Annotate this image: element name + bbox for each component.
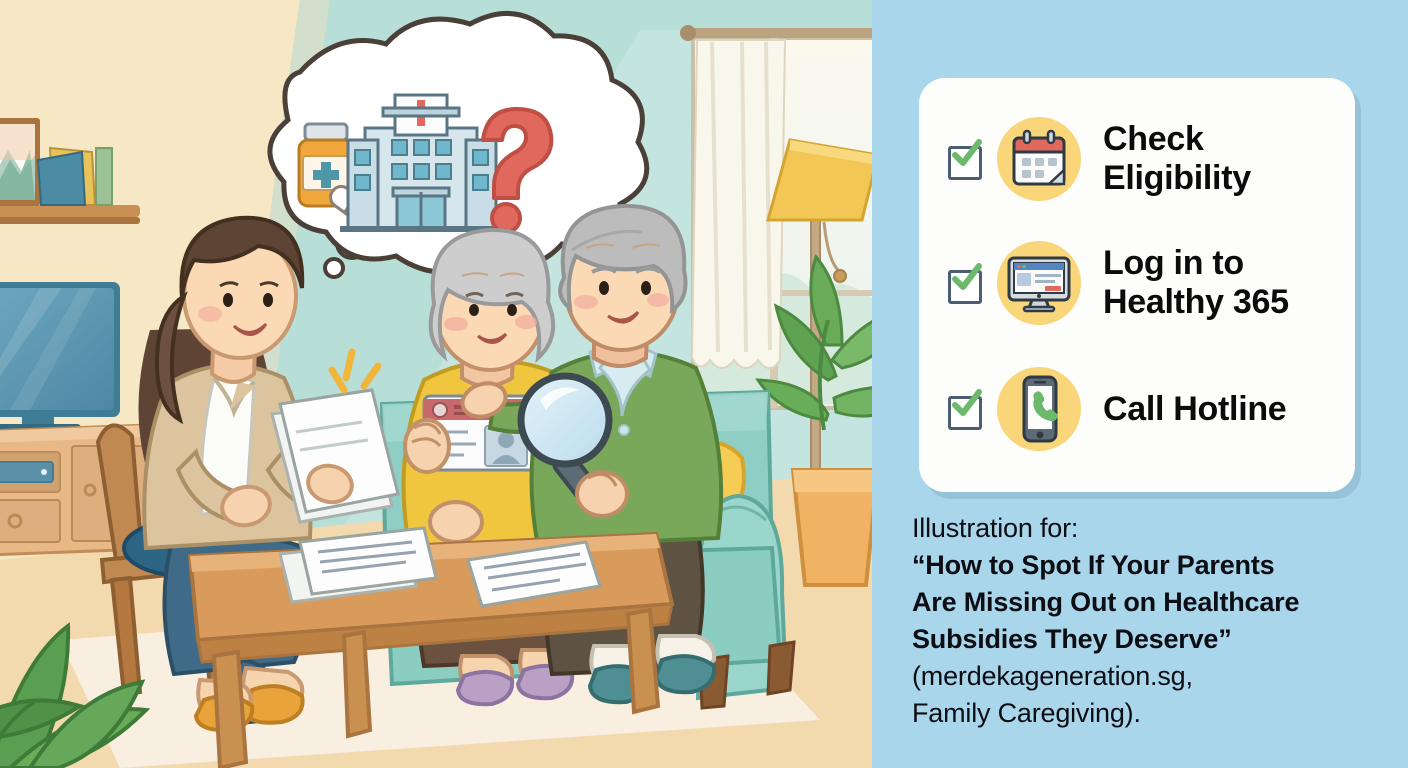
checklist-item-label: Call Hotline: [1103, 390, 1286, 429]
checklist-item-call-hotline[interactable]: Call Hotline: [919, 350, 1355, 468]
slipper: [656, 656, 714, 692]
caption-title: “How to Spot If Your Parents Are Missing…: [912, 547, 1382, 658]
caption-source: (merdekageneration.sg, Family Caregiving…: [912, 658, 1382, 732]
caption-block: Illustration for: “How to Spot If Your P…: [912, 510, 1382, 732]
illustration-panel: [0, 0, 872, 768]
checklist-item-check-eligibility[interactable]: Check Eligibility: [919, 100, 1355, 218]
television: [0, 282, 120, 433]
checkbox-checked-icon[interactable]: [945, 264, 983, 302]
framed-picture: [0, 118, 40, 206]
mobile-phone-call-icon: [997, 367, 1081, 451]
calendar-icon: [997, 117, 1081, 201]
checklist-item-label: Log in to Healthy 365: [1103, 244, 1289, 322]
desktop-monitor-icon: [997, 241, 1081, 325]
caption-lead: Illustration for:: [912, 510, 1382, 547]
screenshot-root: Check Eligibility: [0, 0, 1408, 768]
slipper: [458, 672, 512, 704]
checkbox-checked-icon[interactable]: [945, 390, 983, 428]
checklist-item-log-in-healthy365[interactable]: Log in to Healthy 365: [919, 224, 1355, 342]
checklist-card: Check Eligibility: [919, 78, 1355, 492]
checkbox-checked-icon[interactable]: [945, 140, 983, 178]
info-panel: Check Eligibility: [872, 0, 1408, 768]
checklist-item-label: Check Eligibility: [1103, 120, 1251, 198]
